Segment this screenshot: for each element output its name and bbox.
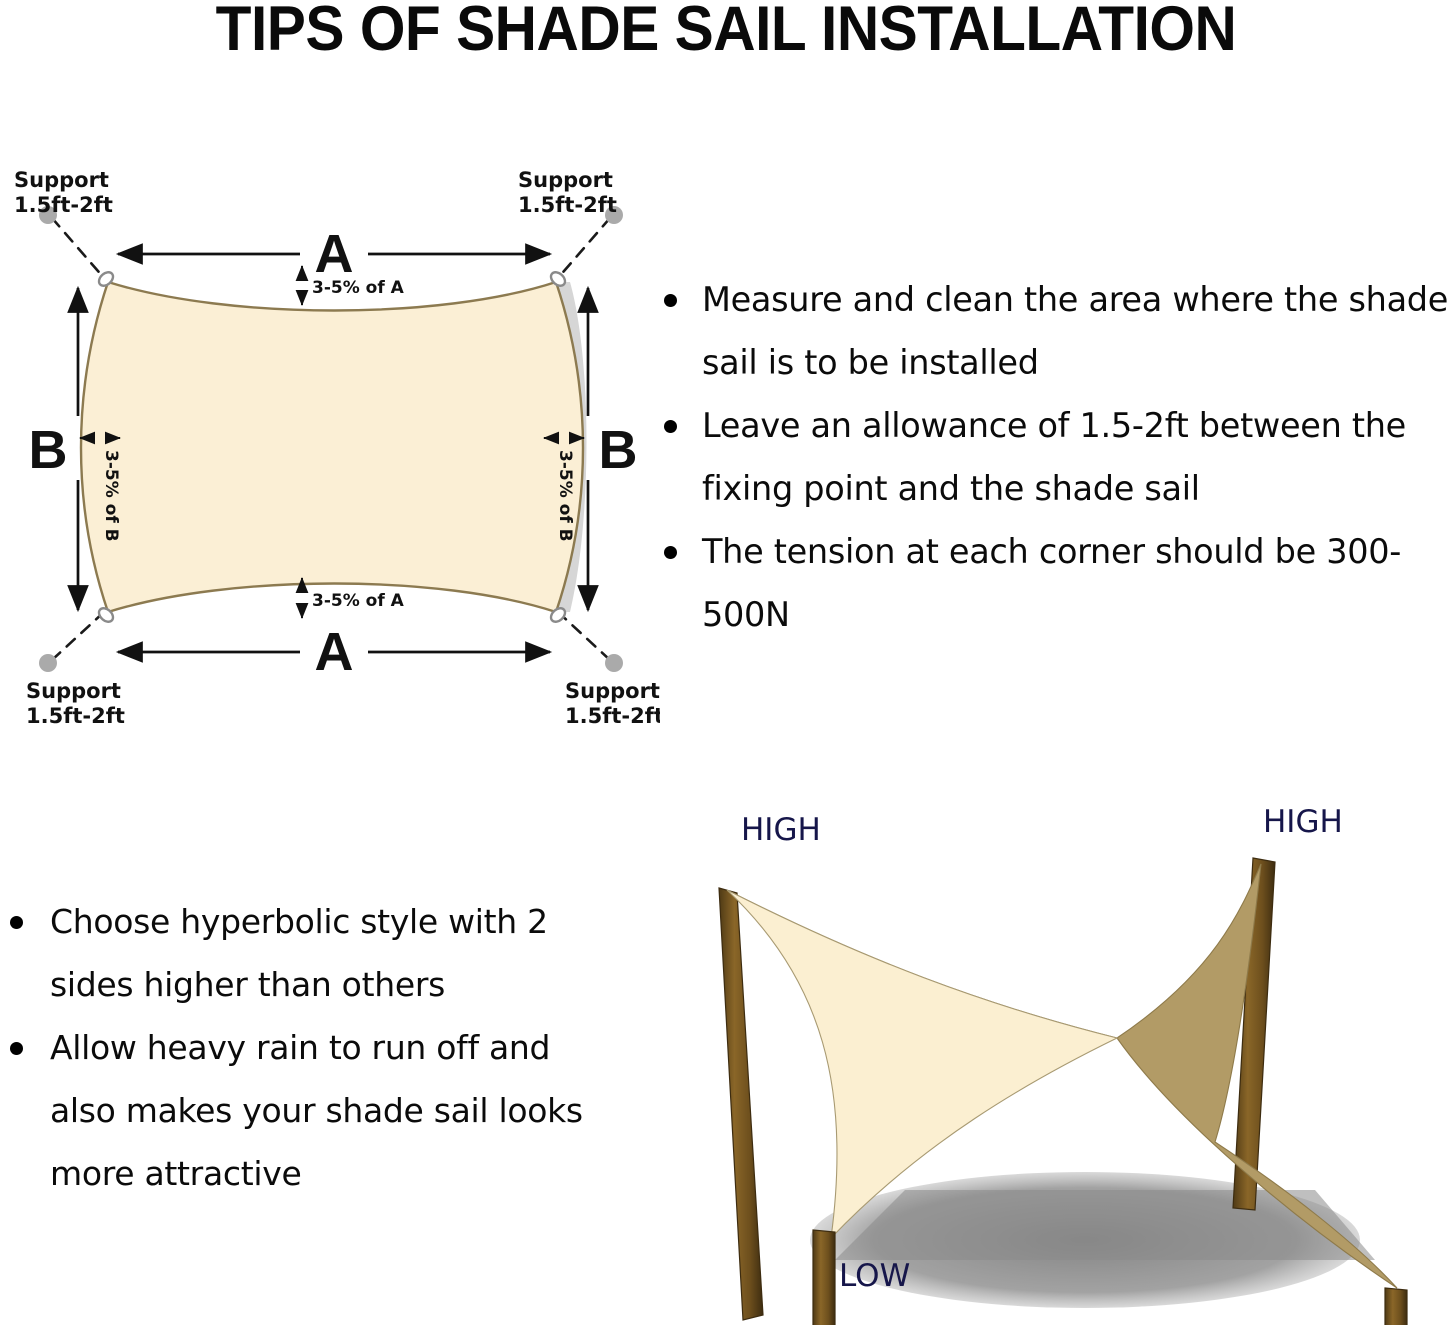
list-item: Allow heavy rain to run off and also mak… bbox=[0, 1016, 620, 1205]
label-high-right: HIGH bbox=[1263, 804, 1343, 840]
post-high-left bbox=[719, 888, 763, 1320]
support-label-bottom-right-title: Support bbox=[565, 679, 660, 703]
tip-text: The tension at each corner should be 300… bbox=[702, 532, 1401, 634]
tips-list-left: Choose hyperbolic style with 2 sides hig… bbox=[0, 890, 620, 1205]
sail-body bbox=[81, 282, 583, 612]
support-label-bottom-left-value: 1.5ft-2ft bbox=[26, 704, 125, 728]
sag-label-a-bottom: 3-5% of A bbox=[312, 591, 405, 611]
tip-text: Allow heavy rain to run off and also mak… bbox=[50, 1028, 583, 1193]
support-label-top-left-value: 1.5ft-2ft bbox=[14, 193, 113, 217]
tip-text: Choose hyperbolic style with 2 sides hig… bbox=[50, 902, 548, 1004]
bullet-icon bbox=[664, 546, 677, 559]
post-low-right bbox=[1385, 1288, 1407, 1325]
list-item: Measure and clean the area where the sha… bbox=[650, 268, 1452, 394]
hyperbolic-sail-diagram: HIGH HIGH LOW LOW bbox=[655, 790, 1452, 1325]
support-label-bottom-left-title: Support bbox=[26, 679, 121, 703]
rectangular-sail-diagram: A A B B 3-5% of A 3-5% of A 3-5% of B 3-… bbox=[0, 160, 660, 740]
support-label-top-right-title: Support bbox=[518, 168, 613, 192]
tip-list: Measure and clean the area where the sha… bbox=[650, 268, 1452, 646]
dimension-label-a-bottom: A bbox=[315, 622, 354, 682]
page-title: TIPS OF SHADE SAIL INSTALLATION bbox=[51, 0, 1401, 62]
bullet-icon bbox=[10, 1042, 23, 1055]
sag-label-a-top: 3-5% of A bbox=[312, 278, 405, 298]
support-label-top-left-title: Support bbox=[14, 168, 109, 192]
tip-list: Choose hyperbolic style with 2 sides hig… bbox=[0, 890, 620, 1205]
support-label-bottom-right-value: 1.5ft-2ft bbox=[565, 704, 660, 728]
label-low-left: LOW bbox=[839, 1258, 910, 1294]
bullet-icon bbox=[664, 420, 677, 433]
dimension-label-b-right: B bbox=[599, 420, 638, 480]
bullet-icon bbox=[664, 294, 677, 307]
list-item: The tension at each corner should be 300… bbox=[650, 520, 1452, 646]
dimension-label-b-left: B bbox=[29, 420, 68, 480]
tips-list-right: Measure and clean the area where the sha… bbox=[650, 268, 1452, 646]
post-low-left bbox=[813, 1230, 835, 1325]
list-item: Leave an allowance of 1.5-2ft between th… bbox=[650, 394, 1452, 520]
label-high-left: HIGH bbox=[741, 812, 821, 848]
dimension-label-a-top: A bbox=[315, 224, 354, 284]
sag-label-b-right: 3-5% of B bbox=[555, 450, 575, 542]
list-item: Choose hyperbolic style with 2 sides hig… bbox=[0, 890, 620, 1016]
support-label-top-right-value: 1.5ft-2ft bbox=[518, 193, 617, 217]
tip-text: Measure and clean the area where the sha… bbox=[702, 280, 1448, 382]
sag-label-b-left: 3-5% of B bbox=[101, 450, 121, 542]
bullet-icon bbox=[10, 916, 23, 929]
tip-text: Leave an allowance of 1.5-2ft between th… bbox=[702, 406, 1406, 508]
